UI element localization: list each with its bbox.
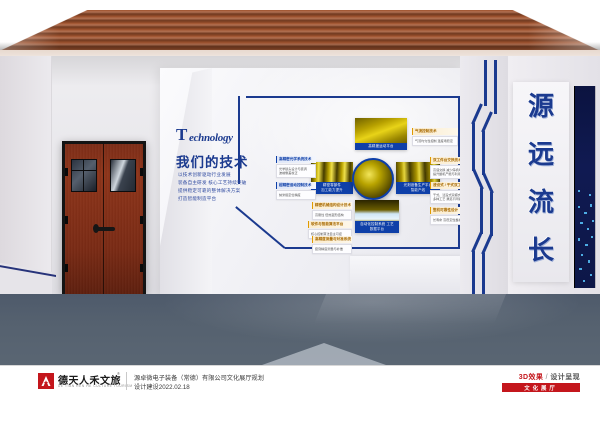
label-body-line: 波前像差校正 <box>279 171 313 176</box>
banner-char-3: 流 <box>528 182 554 219</box>
label-body: 高刚性 低热变形结构 <box>312 210 352 220</box>
subtitle-line: 以技术创新驱动行业发展 <box>178 171 258 179</box>
label-bottom-3: 高精度测量与对准系统 套刻精度测量与补偿 <box>312 236 352 254</box>
door-handle-icon[interactable] <box>95 227 115 231</box>
door-hinge <box>65 216 68 224</box>
pixel-dot <box>578 190 580 192</box>
pixel-dot <box>592 220 594 222</box>
subtitle-line: 装备自主研发 核心工艺持续突破 <box>178 179 258 187</box>
label-heading: 高精度测量与对准系统 <box>312 236 352 243</box>
zigzag-stripe-seg-b <box>482 253 485 296</box>
card-caption-line2: 加工能力提升 <box>311 188 353 193</box>
banner-char-1: 源 <box>528 86 554 123</box>
door-hinge <box>140 168 143 176</box>
zigzag-stripe-seg <box>480 188 483 234</box>
vertical-banner-panel: 源 远 流 长 <box>513 82 569 282</box>
label-body-line: 气流均匀性控制 温度场稳定 <box>415 139 455 144</box>
label-heading: 精密机械结构设计技术 <box>312 202 352 209</box>
card-caption-line2: 数据平台 <box>355 227 399 232</box>
banner-char-4: 长 <box>528 230 554 267</box>
card-caption-line1: 高精度运动平台 <box>355 144 407 149</box>
pixel-dot <box>579 268 582 270</box>
label-bottom-1: 精密机械结构设计技术 高刚性 低热变形结构 <box>312 202 352 220</box>
pixel-dot <box>590 274 592 276</box>
door-hinge <box>65 168 68 176</box>
label-top-right: 气流控制技术 气流均匀性控制 温度场稳定 <box>412 128 458 146</box>
pixel-dot <box>589 194 591 196</box>
card-top-center[interactable]: 高精度运动平台 <box>355 118 407 150</box>
door-panels[interactable] <box>65 144 143 294</box>
footer-right-label: 3D效果 / 设计呈现 <box>519 372 580 382</box>
logo-trademark-symbol: ® <box>117 371 120 376</box>
pixel-dot <box>581 254 583 256</box>
label-body: 气流均匀性控制 温度场稳定 <box>412 136 458 146</box>
label-body: 光学镜头设计与装调 波前像差校正 <box>276 164 316 178</box>
label-left-lower: 超精密运动控制技术 纳米级定位精度 <box>276 182 316 200</box>
banner-char-2: 远 <box>528 134 554 171</box>
room-3d-render: T echnology 我们的技术 以技术创新驱动行业发展 装备自主研发 核心工… <box>0 10 600 365</box>
subtitle-line: 提供稳定可靠的整体解决方案 <box>178 187 258 195</box>
pixel-dot <box>588 260 590 263</box>
pixel-dot <box>591 236 593 238</box>
label-heading: 高精密光学系统技术 <box>276 156 316 163</box>
floor-foreground-step <box>262 343 386 365</box>
title-chinese: 我们的技术 <box>176 151 249 171</box>
card-left-bottles[interactable]: 精密零部件 加工能力提升 <box>311 162 353 194</box>
card-caption: 精密零部件 加工能力提升 <box>311 182 353 194</box>
logo-english-name: DE TIAN REN HE CULTURE TOURISM <box>58 384 133 388</box>
pixel-dot <box>580 222 583 224</box>
door-hinge <box>140 264 143 272</box>
subtitle-line: 打造智能制造平台 <box>178 195 258 203</box>
pixel-dot <box>590 204 592 207</box>
footer-description-line2: 设计建设2022.02.18 <box>134 382 190 391</box>
pixel-dot <box>583 280 585 282</box>
blue-outline-top <box>246 96 460 98</box>
label-body-line: 纳米级定位精度 <box>279 193 313 198</box>
label-heading: 软件与智能算法平台 <box>308 221 352 228</box>
footer-red-badge: 文化展厅 <box>502 383 580 392</box>
label-body: 纳米级定位精度 <box>276 190 316 200</box>
pixel-dot <box>578 206 580 208</box>
pixel-dot <box>587 228 589 230</box>
door-window-left <box>71 159 97 192</box>
label-body-line: 高刚性 低热变形结构 <box>315 213 349 218</box>
door-hinge <box>140 216 143 224</box>
label-separator: / <box>546 374 548 381</box>
ceiling-left-wedge <box>0 10 90 52</box>
card-bottom-monitor[interactable]: 自动化控制系统 工艺 数据平台 <box>355 200 399 233</box>
screenshot-root: T echnology 我们的技术 以技术创新驱动行业发展 装备自主研发 核心工… <box>0 0 600 424</box>
floor-reflection <box>314 294 506 324</box>
door-window-right <box>110 159 136 192</box>
lower-display-panel <box>350 256 462 294</box>
zigzag-stripe-seg-b <box>494 60 497 114</box>
title-english: echnology <box>189 132 233 144</box>
label-heading: 气流控制技术 <box>412 128 458 135</box>
zigzag-stripe-seg <box>484 60 487 106</box>
title-subtitle-list: 以技术创新驱动行业发展 装备自主研发 核心工艺持续突破 提供稳定可靠的整体解决方… <box>178 171 258 203</box>
company-logo-icon <box>38 373 54 389</box>
zigzag-stripe-seg-b <box>482 131 485 175</box>
pixel-dot <box>585 244 588 246</box>
footer-description-line1: 源卓微电子装备（常德）有限公司文化展厅规划 <box>134 373 264 382</box>
label-heading: 超精密运动控制技术 <box>276 182 316 189</box>
zigzag-stripe-seg <box>472 123 475 171</box>
pixel-dot <box>584 212 587 214</box>
digital-pixel-panel <box>574 86 596 288</box>
footer-divider <box>126 372 127 390</box>
pixel-dot <box>578 238 580 241</box>
ceiling-right-wedge <box>510 10 600 52</box>
label-left-upper: 高精密光学系统技术 光学镜头设计与装调 波前像差校正 <box>276 156 316 178</box>
wooden-slat-ceiling <box>0 10 600 52</box>
zigzag-stripe-seg-b <box>490 192 493 236</box>
card-caption: 自动化控制系统 工艺 数据平台 <box>355 221 399 233</box>
label-body: 套刻精度测量与补偿 <box>312 244 352 254</box>
door-hinge <box>65 264 68 272</box>
entrance-double-door[interactable] <box>62 141 146 294</box>
card-center-circle[interactable] <box>352 158 394 200</box>
label-design-presentation: 设计呈现 <box>550 374 580 381</box>
zigzag-stripe-seg <box>472 251 475 296</box>
title-initial-letter: T <box>176 126 187 143</box>
label-3d-effect: 3D效果 <box>519 374 544 381</box>
card-caption: 高精度运动平台 <box>355 143 407 150</box>
label-body-line: 套刻精度测量与补偿 <box>315 247 349 252</box>
